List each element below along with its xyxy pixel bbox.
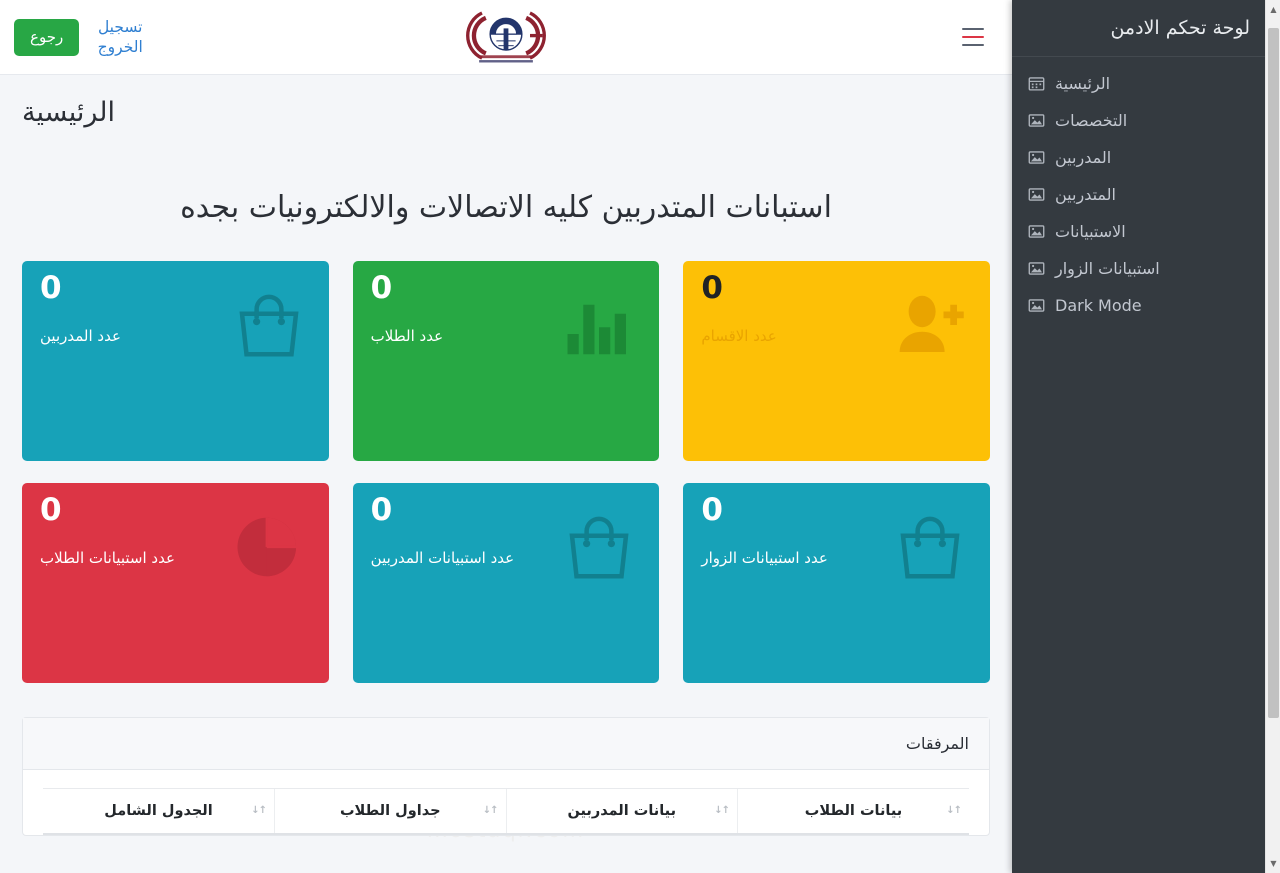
- user-add-icon: [894, 289, 966, 361]
- stat-value: 0: [40, 495, 62, 526]
- stat-value: 0: [371, 495, 393, 526]
- attachments-table: ↑↓ بيانات الطلاب ↑↓ بيانات المدربين ↑↓ ج…: [43, 788, 969, 835]
- sidebar-item-visitor-surveys[interactable]: استبيانات الزوار: [1012, 250, 1266, 287]
- pie-chart-icon: [233, 511, 305, 583]
- table-head: ↑↓ بيانات الطلاب ↑↓ بيانات المدربين ↑↓ ج…: [43, 789, 969, 835]
- page-title: الرئيسية: [22, 97, 990, 128]
- broken-image-icon: [1028, 112, 1045, 129]
- logout-link[interactable]: تسجيل الخروج: [93, 18, 147, 58]
- stat-value: 0: [40, 273, 62, 304]
- site-logo: [0, 0, 1012, 75]
- column-header-full-schedule[interactable]: ↑↓ الجدول الشامل: [43, 789, 275, 835]
- broken-image-icon: [1028, 149, 1045, 166]
- column-label: بيانات الطلاب: [805, 803, 902, 819]
- sidebar-item-label: الاستبيانات: [1055, 222, 1126, 241]
- stat-value: 0: [701, 273, 723, 304]
- dashboard-heading: استبانات المتدربين كليه الاتصالات واﻻلكت…: [0, 190, 1012, 225]
- column-label: جداول الطلاب: [340, 803, 441, 819]
- scrollbar-up-arrow[interactable]: ▲: [1266, 2, 1280, 17]
- broken-image-icon: [1028, 186, 1045, 203]
- sidebar-item-dark-mode[interactable]: Dark Mode: [1012, 287, 1266, 324]
- stat-card-trainer-surveys[interactable]: 0 عدد استبيانات المدربين: [353, 483, 660, 683]
- sort-icon[interactable]: ↑↓: [251, 806, 266, 816]
- column-label: بيانات المدربين: [567, 803, 676, 819]
- sidebar-item-label: Dark Mode: [1055, 296, 1142, 315]
- broken-image-icon: [1028, 223, 1045, 240]
- broken-image-icon: [1028, 297, 1045, 314]
- sidebar-item-label: التخصصات: [1055, 111, 1127, 130]
- stat-value: 0: [371, 273, 393, 304]
- sidebar-item-label: المدربين: [1055, 148, 1111, 167]
- sidebar-item-specializations[interactable]: التخصصات: [1012, 102, 1266, 139]
- hamburger-menu-icon[interactable]: [962, 28, 984, 46]
- panel-title: المرفقات: [23, 718, 989, 770]
- sidebar-nav: الرئيسية التخصصات: [1012, 57, 1266, 324]
- stat-label: عدد استبيانات المدربين: [371, 549, 514, 567]
- broken-image-icon: [1028, 260, 1045, 277]
- stat-card-student-surveys[interactable]: 0 عدد استبيانات الطلاب: [22, 483, 329, 683]
- shopping-bag-icon: [894, 511, 966, 583]
- scrollbar-down-arrow[interactable]: ▼: [1266, 856, 1280, 871]
- navbar-left-actions: رجوع تسجيل الخروج: [14, 0, 147, 75]
- calendar-icon: [1028, 75, 1045, 92]
- stat-card-departments[interactable]: 0 عدد الاقسام: [683, 261, 990, 461]
- stat-card-trainers[interactable]: 0 عدد المدربين: [22, 261, 329, 461]
- table-header-row: ↑↓ بيانات الطلاب ↑↓ بيانات المدربين ↑↓ ج…: [43, 789, 969, 835]
- stat-value: 0: [701, 495, 723, 526]
- stat-card-grid: 0 عدد الاقسام 0 عدد الطلاب: [0, 225, 1012, 683]
- sidebar-item-trainers[interactable]: المدربين: [1012, 139, 1266, 176]
- sort-icon[interactable]: ↑↓: [714, 806, 729, 816]
- main-content-column: رجوع تسجيل الخروج: [0, 0, 1012, 873]
- sidebar-item-surveys[interactable]: الاستبيانات: [1012, 213, 1266, 250]
- column-header-student-schedules[interactable]: ↑↓ جداول الطلاب: [275, 789, 507, 835]
- stat-card-visitor-surveys[interactable]: 0 عدد استبيانات الزوار: [683, 483, 990, 683]
- scrollbar-thumb[interactable]: [1268, 28, 1279, 718]
- column-label: الجدول الشامل: [104, 803, 212, 819]
- page-title-text: الرئيسية: [22, 97, 115, 128]
- panel-body: ↑↓ بيانات الطلاب ↑↓ بيانات المدربين ↑↓ ج…: [23, 770, 989, 835]
- admin-sidebar: لوحة تحكم الادمن الرئيسية: [1012, 0, 1266, 873]
- stat-card-students[interactable]: 0 عدد الطلاب: [353, 261, 660, 461]
- sort-icon[interactable]: ↑↓: [483, 806, 498, 816]
- top-navbar: رجوع تسجيل الخروج: [0, 0, 1012, 75]
- column-header-student-data[interactable]: ↑↓ بيانات الطلاب: [738, 789, 970, 835]
- attachments-panel: المرفقات ↑↓ بيانات الطلاب ↑↓ بيانات المد…: [22, 717, 990, 836]
- app-root: رجوع تسجيل الخروج: [0, 0, 1280, 873]
- stat-label: عدد الطلاب: [371, 327, 443, 345]
- hamburger-bar-middle: [962, 36, 984, 38]
- column-header-trainer-data[interactable]: ↑↓ بيانات المدربين: [506, 789, 738, 835]
- shopping-bag-icon: [563, 511, 635, 583]
- stat-label: عدد المدربين: [40, 327, 121, 345]
- back-button[interactable]: رجوع: [14, 19, 79, 56]
- hamburger-bar-bottom: [962, 44, 984, 46]
- sort-icon[interactable]: ↑↓: [946, 806, 961, 816]
- sidebar-item-label: الرئيسية: [1055, 74, 1110, 93]
- bar-chart-icon: [563, 289, 635, 361]
- cte-logo-icon: [458, 9, 554, 67]
- sidebar-title: لوحة تحكم الادمن: [1012, 0, 1266, 57]
- sidebar-item-label: استبيانات الزوار: [1055, 259, 1160, 278]
- hamburger-bar-top: [962, 28, 984, 30]
- stat-label: عدد استبيانات الطلاب: [40, 549, 175, 567]
- sidebar-item-label: المتدربين: [1055, 185, 1116, 204]
- stat-label: عدد الاقسام: [701, 327, 776, 345]
- page-scrollbar[interactable]: ▲ ▼: [1265, 0, 1280, 873]
- sidebar-item-home[interactable]: الرئيسية: [1012, 65, 1266, 102]
- stat-label: عدد استبيانات الزوار: [701, 549, 827, 567]
- sidebar-item-trainees[interactable]: المتدربين: [1012, 176, 1266, 213]
- shopping-bag-icon: [233, 289, 305, 361]
